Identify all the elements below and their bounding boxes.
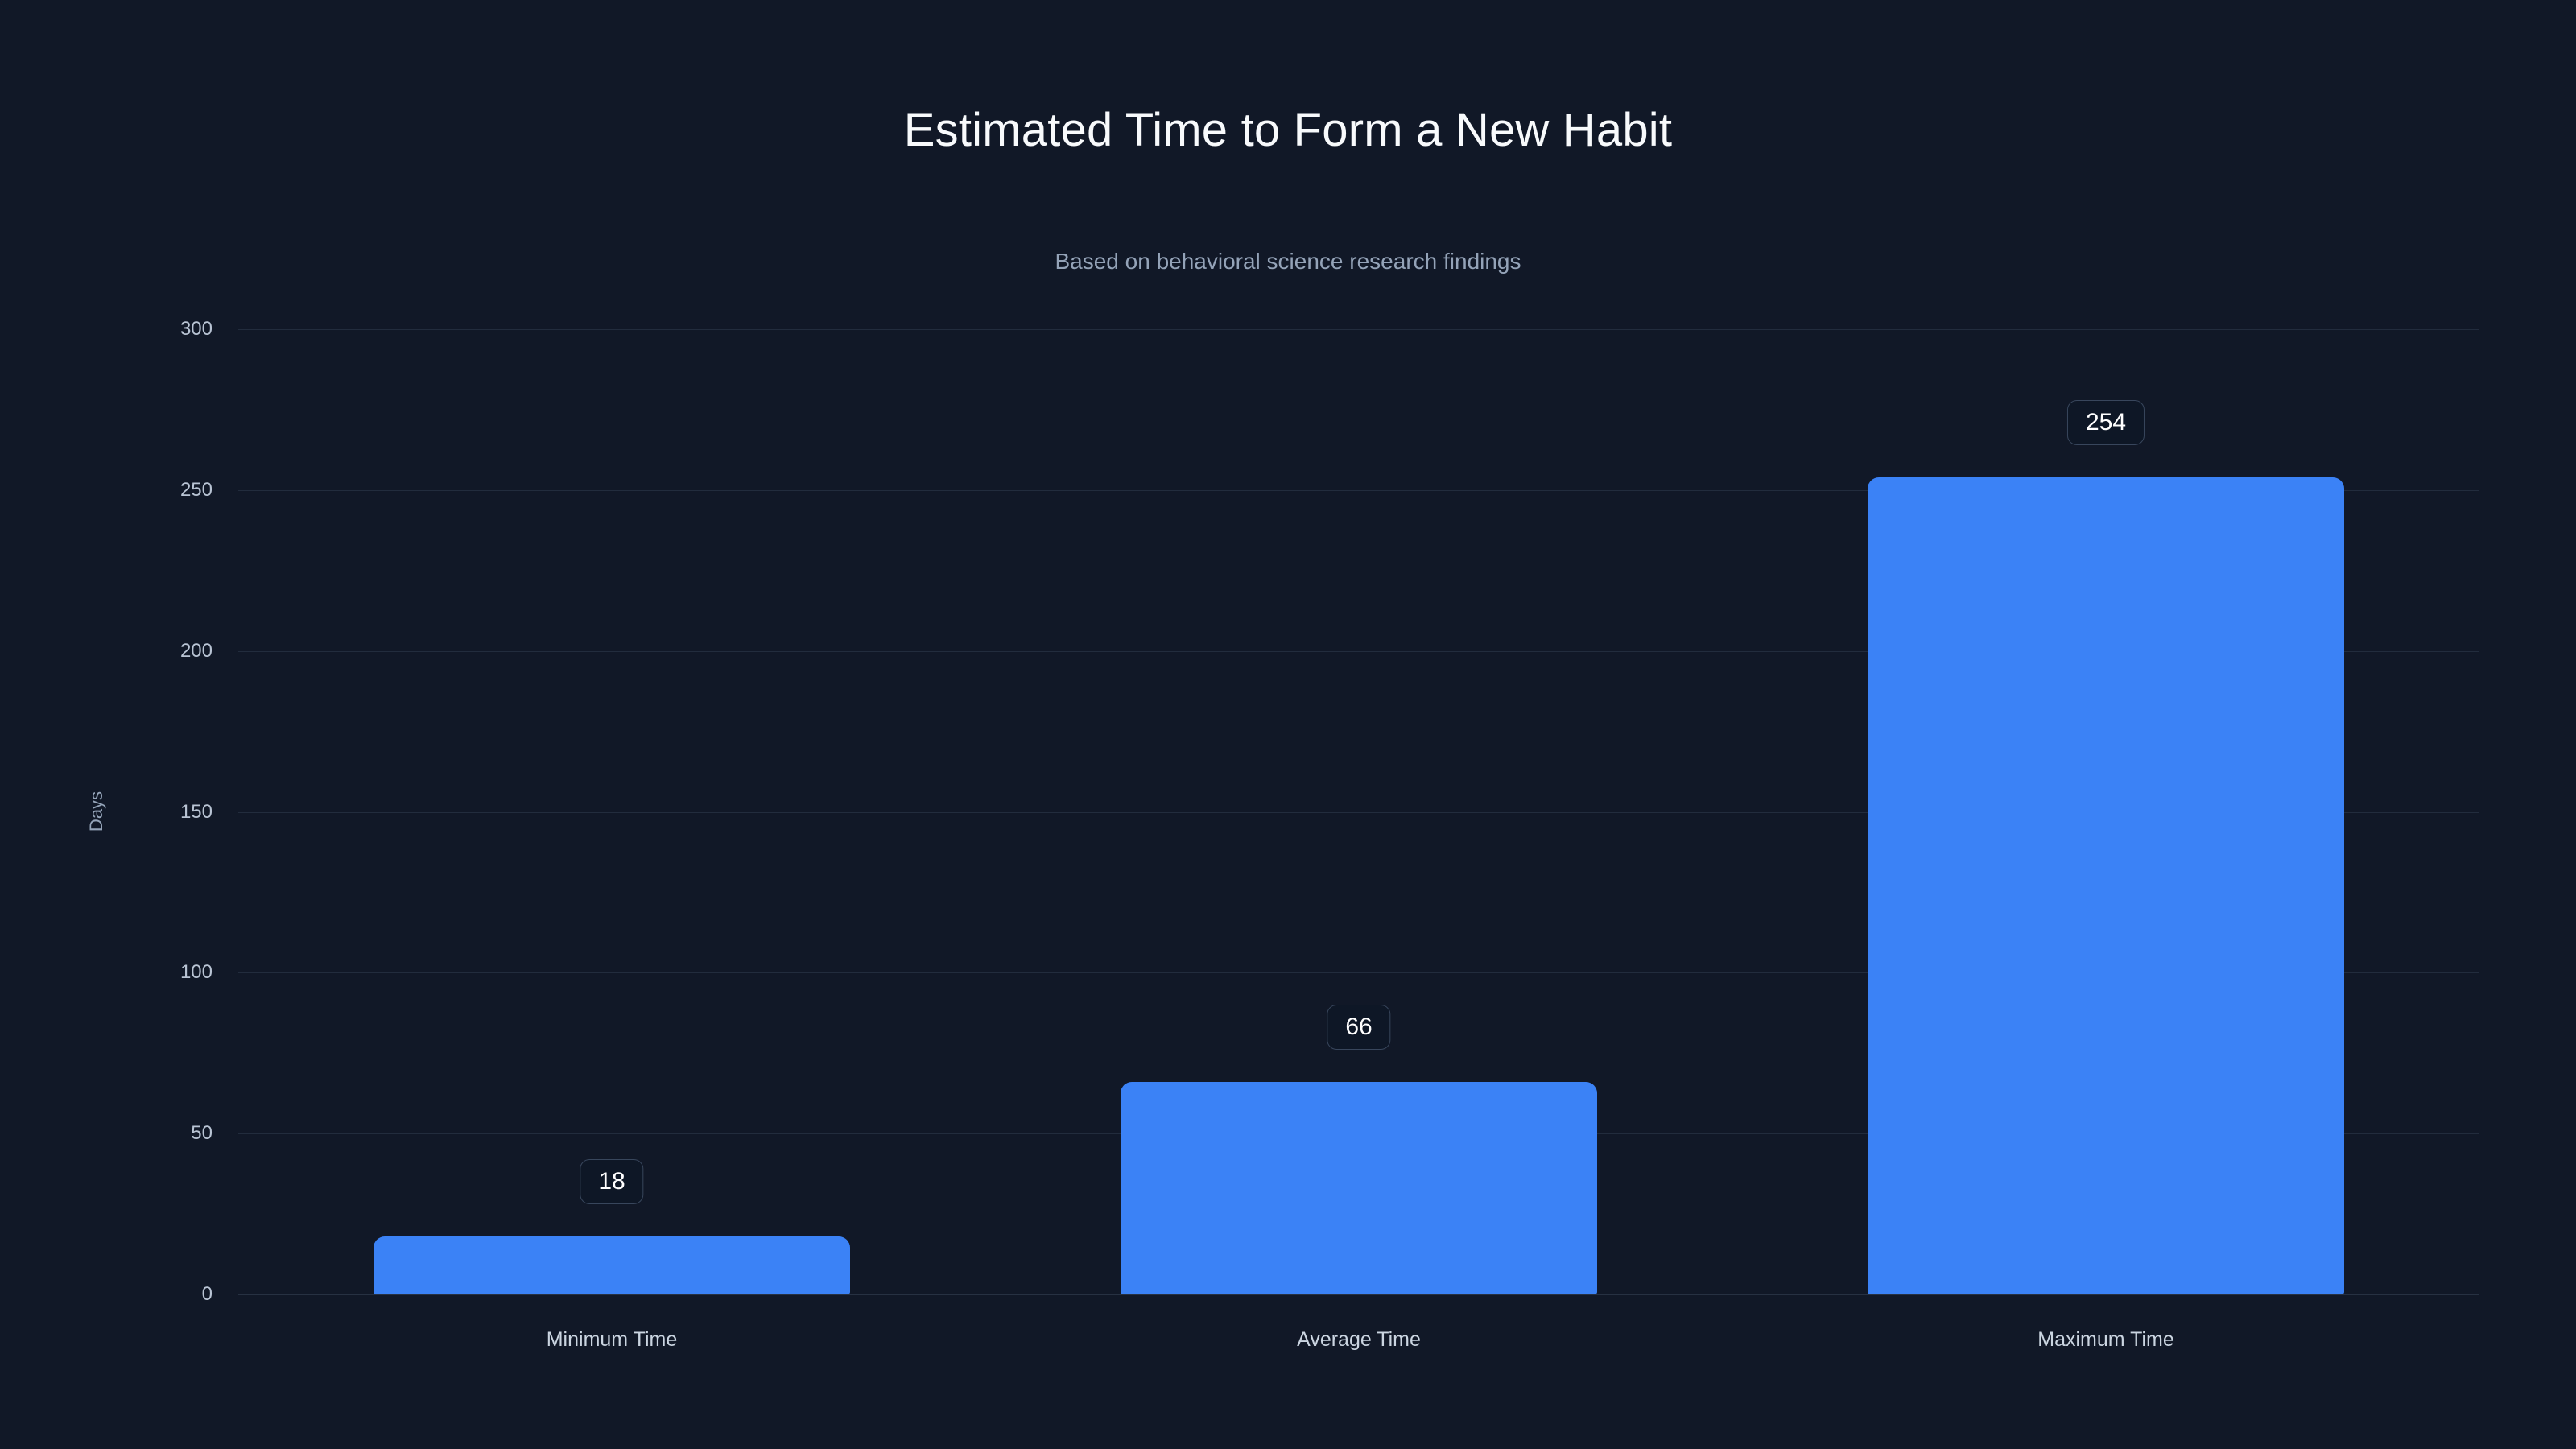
y-axis-tick-label: 300 bbox=[92, 318, 213, 341]
y-axis-tick-label: 100 bbox=[92, 961, 213, 984]
chart-title: Estimated Time to Form a New Habit bbox=[0, 105, 2576, 156]
y-axis-tick-label: 150 bbox=[92, 801, 213, 824]
bar-value-badge: 18 bbox=[580, 1159, 643, 1204]
plot-area bbox=[238, 329, 2479, 1294]
bar[interactable] bbox=[1868, 477, 2343, 1294]
x-axis-tick-label: Minimum Time bbox=[330, 1328, 894, 1352]
bar-value-badge: 66 bbox=[1327, 1005, 1390, 1050]
x-axis-tick-label: Maximum Time bbox=[1824, 1328, 2388, 1352]
bar[interactable] bbox=[374, 1236, 849, 1294]
gridline bbox=[238, 329, 2479, 330]
bar[interactable] bbox=[1121, 1082, 1596, 1294]
bar-chart-canvas: Estimated Time to Form a New Habit Based… bbox=[0, 0, 2576, 1449]
bar-value-badge: 254 bbox=[2067, 400, 2145, 445]
y-axis-tick-label: 50 bbox=[92, 1122, 213, 1145]
y-axis-tick-label: 200 bbox=[92, 640, 213, 663]
x-axis-tick-label: Average Time bbox=[1077, 1328, 1641, 1352]
y-axis-tick-label: 250 bbox=[92, 479, 213, 502]
chart-subtitle: Based on behavioral science research fin… bbox=[0, 250, 2576, 275]
y-axis-tick-label: 0 bbox=[92, 1283, 213, 1306]
gridline bbox=[238, 1294, 2479, 1295]
